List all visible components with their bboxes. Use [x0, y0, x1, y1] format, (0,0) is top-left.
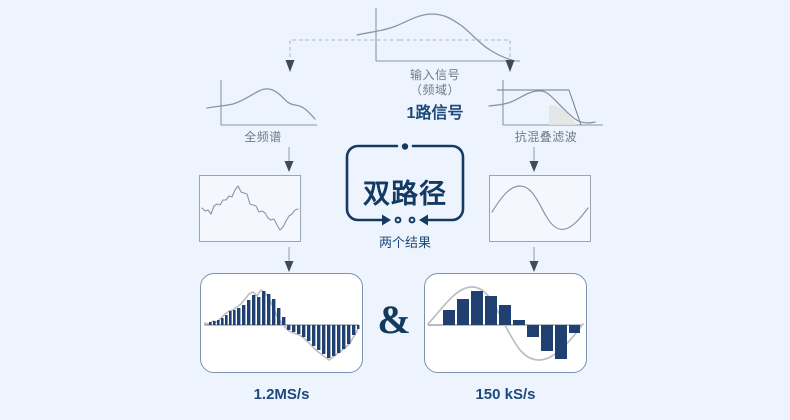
smooth-waveform-panel	[489, 175, 591, 242]
left-branch-chart	[203, 78, 323, 134]
right-arrow-to-midpanel	[527, 147, 541, 173]
high-rate-result-card	[200, 273, 363, 373]
ampersand-conjunction: &	[372, 300, 416, 340]
high-rate-label: 1.2MS/s	[200, 386, 363, 403]
diagram-canvas: 输入信号 （频域） 1路信号 全频谱 抗混叠滤波	[0, 0, 790, 420]
left-branch-caption: 全频谱	[203, 128, 323, 145]
low-rate-label: 150 kS/s	[424, 386, 587, 403]
sine-wave-icon	[490, 176, 590, 241]
high-rate-sampled-bars-icon	[201, 274, 362, 372]
noisy-waveform-panel	[199, 175, 301, 242]
spectrum-curve-icon	[203, 78, 323, 134]
left-arrow-to-midpanel	[282, 147, 296, 173]
right-arrow-to-result	[527, 247, 541, 273]
jagged-waveform-icon	[200, 176, 300, 241]
low-rate-sampled-bars-icon	[425, 274, 586, 372]
low-rate-result-card	[424, 273, 587, 373]
two-results-subtitle: 两个结果	[344, 232, 466, 251]
right-branch-caption: 抗混叠滤波	[476, 128, 616, 145]
top-branch-connectors	[270, 36, 530, 84]
dual-path-title: 双路径	[344, 172, 466, 211]
antialias-filter-icon	[483, 78, 609, 134]
left-arrow-to-result	[282, 247, 296, 273]
right-branch-chart	[483, 78, 609, 134]
